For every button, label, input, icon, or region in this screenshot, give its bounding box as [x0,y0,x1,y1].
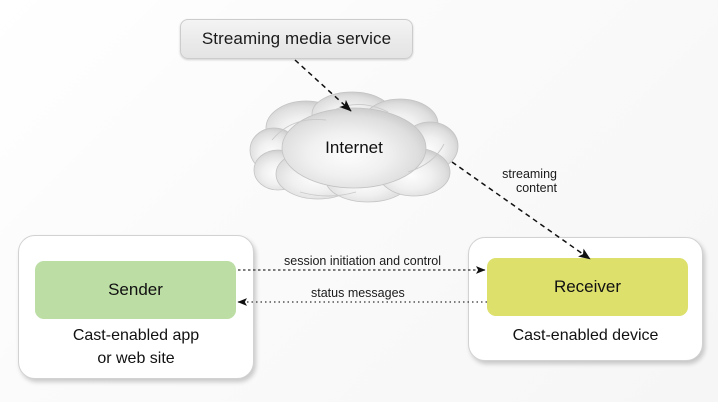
node-sender: Sender [35,261,236,319]
sender-caption-line1: Cast-enabled app [18,324,254,347]
streaming-media-service-label: Streaming media service [202,29,391,49]
node-streaming-media-service: Streaming media service [180,19,413,59]
receiver-label: Receiver [554,277,621,297]
streaming-content-line1: streaming [493,167,557,181]
node-internet-cloud: Internet [248,88,460,203]
node-receiver: Receiver [487,258,688,316]
receiver-caption: Cast-enabled device [468,324,703,347]
edge-label-status-messages: status messages [311,286,405,300]
sender-caption-line2: or web site [18,347,254,370]
receiver-caption-line1: Cast-enabled device [468,324,703,347]
streaming-content-line2: content [493,181,557,195]
sender-label: Sender [108,280,163,300]
diagram-canvas: Streaming media service [0,0,718,402]
cloud-icon [248,88,460,203]
edge-label-session-initiation-and-control: session initiation and control [284,254,441,268]
sender-caption: Cast-enabled app or web site [18,324,254,370]
edge-label-streaming-content: streaming content [493,167,557,195]
